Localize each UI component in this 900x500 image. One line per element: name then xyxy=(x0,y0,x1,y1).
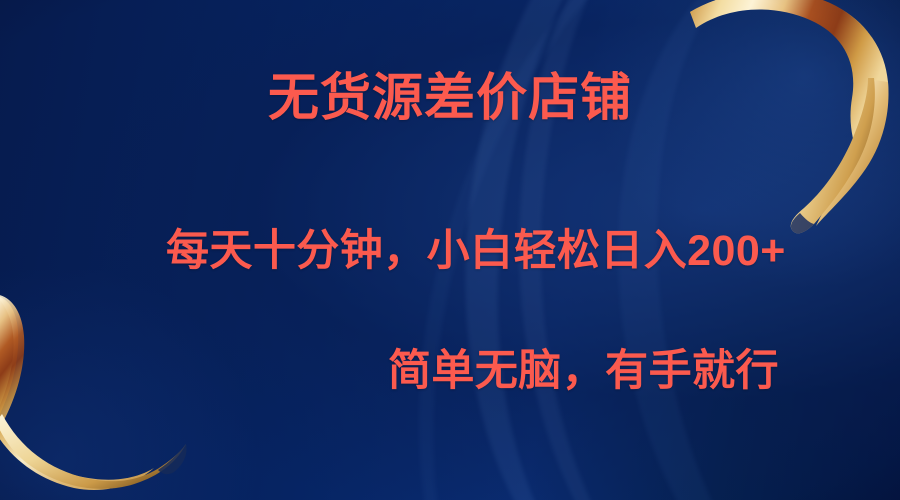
promo-poster: 无货源差价店铺 每天十分钟，小白轻松日入200+ 简单无脑，有手就行 xyxy=(0,0,900,500)
vignette-overlay xyxy=(0,0,900,500)
